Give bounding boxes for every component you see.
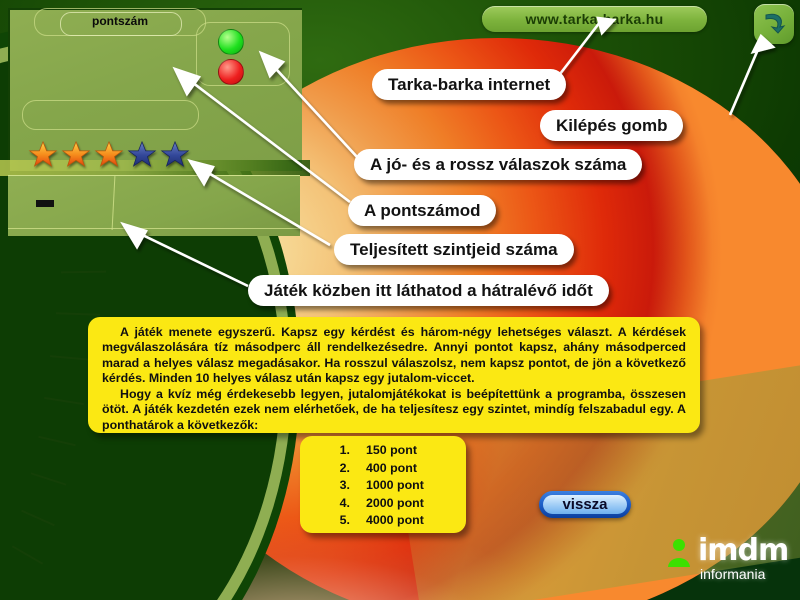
callout-answers: A jó- és a rossz válaszok száma xyxy=(354,149,642,180)
hud-underline xyxy=(8,228,300,229)
app-screen: pontszám www.tarka-barka.hu xyxy=(0,0,800,600)
star-icon-filled xyxy=(28,140,58,169)
person-figure-icon xyxy=(664,536,698,570)
callout-score: A pontszámod xyxy=(348,195,496,226)
info-panel: A játék menete egyszerű. Kapsz egy kérdé… xyxy=(88,317,700,433)
callout-levels: Teljesített szintjeid száma xyxy=(334,234,574,265)
callout-internet: Tarka-barka internet xyxy=(372,69,566,100)
callout-time: Játék közben itt láthatod a hátralévő id… xyxy=(248,275,609,306)
point-value: 2000 pont xyxy=(366,495,424,513)
wrong-answer-light-icon xyxy=(218,59,244,85)
point-index: 3. xyxy=(300,477,366,495)
info-paragraph-1: A játék menete egyszerű. Kapsz egy kérdé… xyxy=(102,325,686,386)
point-value: 150 pont xyxy=(366,442,417,460)
point-value: 4000 pont xyxy=(366,512,424,530)
point-value: 400 pont xyxy=(366,460,417,478)
website-url-text: www.tarka-barka.hu xyxy=(526,11,664,27)
logo-word: imdm xyxy=(698,533,788,568)
correct-answer-light-icon xyxy=(218,29,244,55)
back-button[interactable]: vissza xyxy=(539,491,631,518)
callout-exit: Kilépés gomb xyxy=(540,110,683,141)
point-index: 1. xyxy=(300,442,366,460)
level-stars xyxy=(28,140,190,169)
score-label: pontszám xyxy=(60,14,180,28)
exit-button[interactable] xyxy=(754,4,794,44)
star-icon-empty xyxy=(127,140,157,169)
website-url-pill[interactable]: www.tarka-barka.hu xyxy=(482,6,707,32)
list-item: 3.1000 pont xyxy=(300,477,466,495)
point-index: 4. xyxy=(300,495,366,513)
back-button-label: vissza xyxy=(562,496,607,513)
list-item: 2.400 pont xyxy=(300,460,466,478)
imdm-logo: imdm informania xyxy=(664,533,792,591)
point-index: 2. xyxy=(300,460,366,478)
star-icon-filled xyxy=(94,140,124,169)
point-value: 1000 pont xyxy=(366,477,424,495)
info-paragraph-2: Hogy a kvíz még érdekesebb legyen, jutal… xyxy=(102,387,686,433)
point-index: 5. xyxy=(300,512,366,530)
points-thresholds-panel: 1.150 pont 2.400 pont 3.1000 pont 4.2000… xyxy=(300,436,466,533)
list-item: 1.150 pont xyxy=(300,442,466,460)
curved-exit-arrow-icon xyxy=(759,9,789,39)
hud-mid-frame xyxy=(22,100,199,130)
back-button-inner: vissza xyxy=(543,495,627,514)
list-item: 4.2000 pont xyxy=(300,495,466,513)
level-value xyxy=(36,200,54,207)
star-icon-empty xyxy=(160,140,190,169)
list-item: 5.4000 pont xyxy=(300,512,466,530)
logo-subtitle: informania xyxy=(700,566,765,582)
star-icon-filled xyxy=(61,140,91,169)
